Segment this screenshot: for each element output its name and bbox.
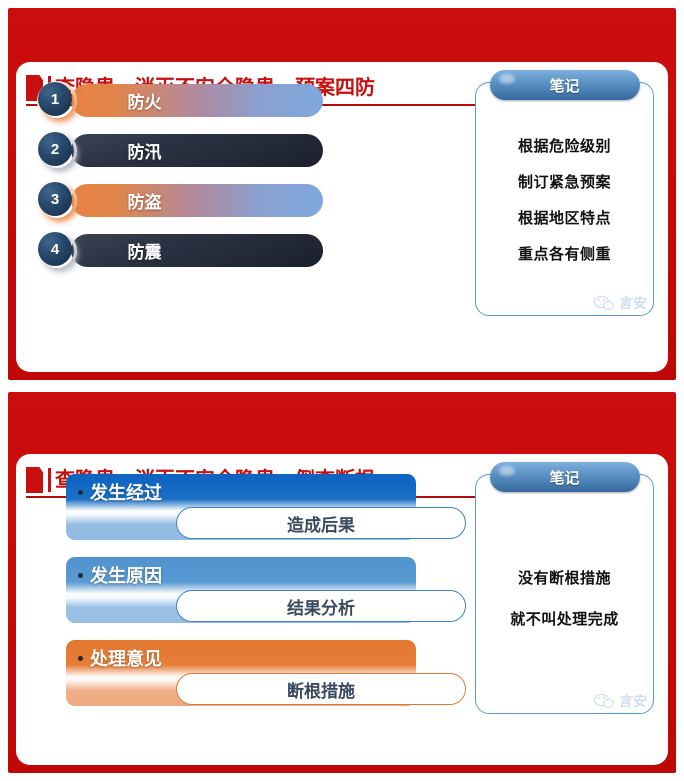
bar-label: 防盗 [38, 184, 323, 217]
list-item[interactable]: 防震 4 [38, 234, 323, 267]
bar-label: 防火 [38, 84, 323, 117]
watermark-label: 言安 [618, 293, 648, 313]
notes-line-list: 没有断根措施 就不叫处理完成 [476, 567, 653, 629]
numbered-bar-list: 防火 1 防汛 2 防盗 [38, 84, 323, 284]
number-badge: 1 [38, 82, 72, 116]
notes-line: 没有断根措施 [518, 567, 611, 588]
notes-header-pill: 笔记 [490, 70, 640, 100]
slide-frame-1: 查隐患---消灭不安全隐患---预案四防 防火 1 防汛 2 [8, 8, 676, 380]
bar-heading: 发生原因 [78, 562, 162, 588]
slide-card-2: 查隐患---消灭不安全隐患---倒查断根 发生经过 造成后果 发生原因 [16, 454, 668, 765]
notes-header-label: 笔记 [549, 75, 579, 96]
list-item[interactable]: 发生原因 结果分析 [66, 557, 466, 626]
notes-header-pill: 笔记 [490, 462, 640, 492]
number-badge-wrap: 1 [38, 82, 76, 120]
list-item[interactable]: 处理意见 断根措施 [66, 640, 466, 709]
bar-heading: 发生经过 [78, 479, 162, 505]
bullet-icon [78, 656, 83, 661]
number-badge: 3 [38, 182, 72, 216]
number-badge-wrap: 3 [38, 182, 76, 220]
bar-label: 防震 [38, 234, 323, 267]
page-flag-icon [26, 467, 43, 493]
list-item[interactable]: 防汛 2 [38, 134, 323, 167]
notes-line-list: 根据危险级别 制订紧急预案 根据地区特点 重点各有侧重 [476, 135, 653, 264]
bar-heading-label: 发生经过 [90, 479, 162, 505]
notes-line: 就不叫处理完成 [510, 608, 619, 629]
notes-panel: 笔记 根据危险级别 制订紧急预案 根据地区特点 重点各有侧重 言安 [475, 82, 654, 316]
stacked-bar-list: 发生经过 造成后果 发生原因 结果分析 处理意见 [66, 474, 466, 723]
notes-line: 根据地区特点 [518, 207, 611, 228]
list-item[interactable]: 发生经过 造成后果 [66, 474, 466, 543]
watermark: 言安 [594, 691, 647, 711]
notes-header-label: 笔记 [549, 467, 579, 488]
bullet-icon [78, 490, 83, 495]
bar-heading-label: 处理意见 [90, 645, 162, 671]
outcome-pill[interactable]: 断根措施 [176, 673, 466, 705]
wechat-logo-icon [594, 294, 616, 312]
watermark: 言安 [594, 293, 647, 313]
slide-card-1: 查隐患---消灭不安全隐患---预案四防 防火 1 防汛 2 [16, 62, 668, 372]
list-item[interactable]: 防盗 3 [38, 184, 323, 217]
number-badge: 4 [38, 232, 72, 266]
notes-line: 根据危险级别 [518, 135, 611, 156]
number-badge-wrap: 4 [38, 232, 76, 270]
notes-panel: 笔记 没有断根措施 就不叫处理完成 言安 [475, 474, 654, 714]
bar-heading-label: 发生原因 [90, 562, 162, 588]
slide-frame-2: 查隐患---消灭不安全隐患---倒查断根 发生经过 造成后果 发生原因 [8, 392, 676, 773]
notes-line: 制订紧急预案 [518, 171, 611, 192]
outcome-pill[interactable]: 造成后果 [176, 507, 466, 539]
bullet-icon [78, 573, 83, 578]
number-badge-wrap: 2 [38, 132, 76, 170]
wechat-logo-icon [594, 692, 616, 710]
bar-heading: 处理意见 [78, 645, 162, 671]
list-item[interactable]: 防火 1 [38, 84, 323, 117]
notes-line: 重点各有侧重 [518, 243, 611, 264]
bar-label: 防汛 [38, 134, 323, 167]
watermark-label: 言安 [618, 691, 648, 711]
title-separator [48, 468, 51, 492]
slide-deck-page: 查隐患---消灭不安全隐患---预案四防 防火 1 防汛 2 [0, 0, 684, 781]
number-badge: 2 [38, 132, 72, 166]
outcome-pill[interactable]: 结果分析 [176, 590, 466, 622]
